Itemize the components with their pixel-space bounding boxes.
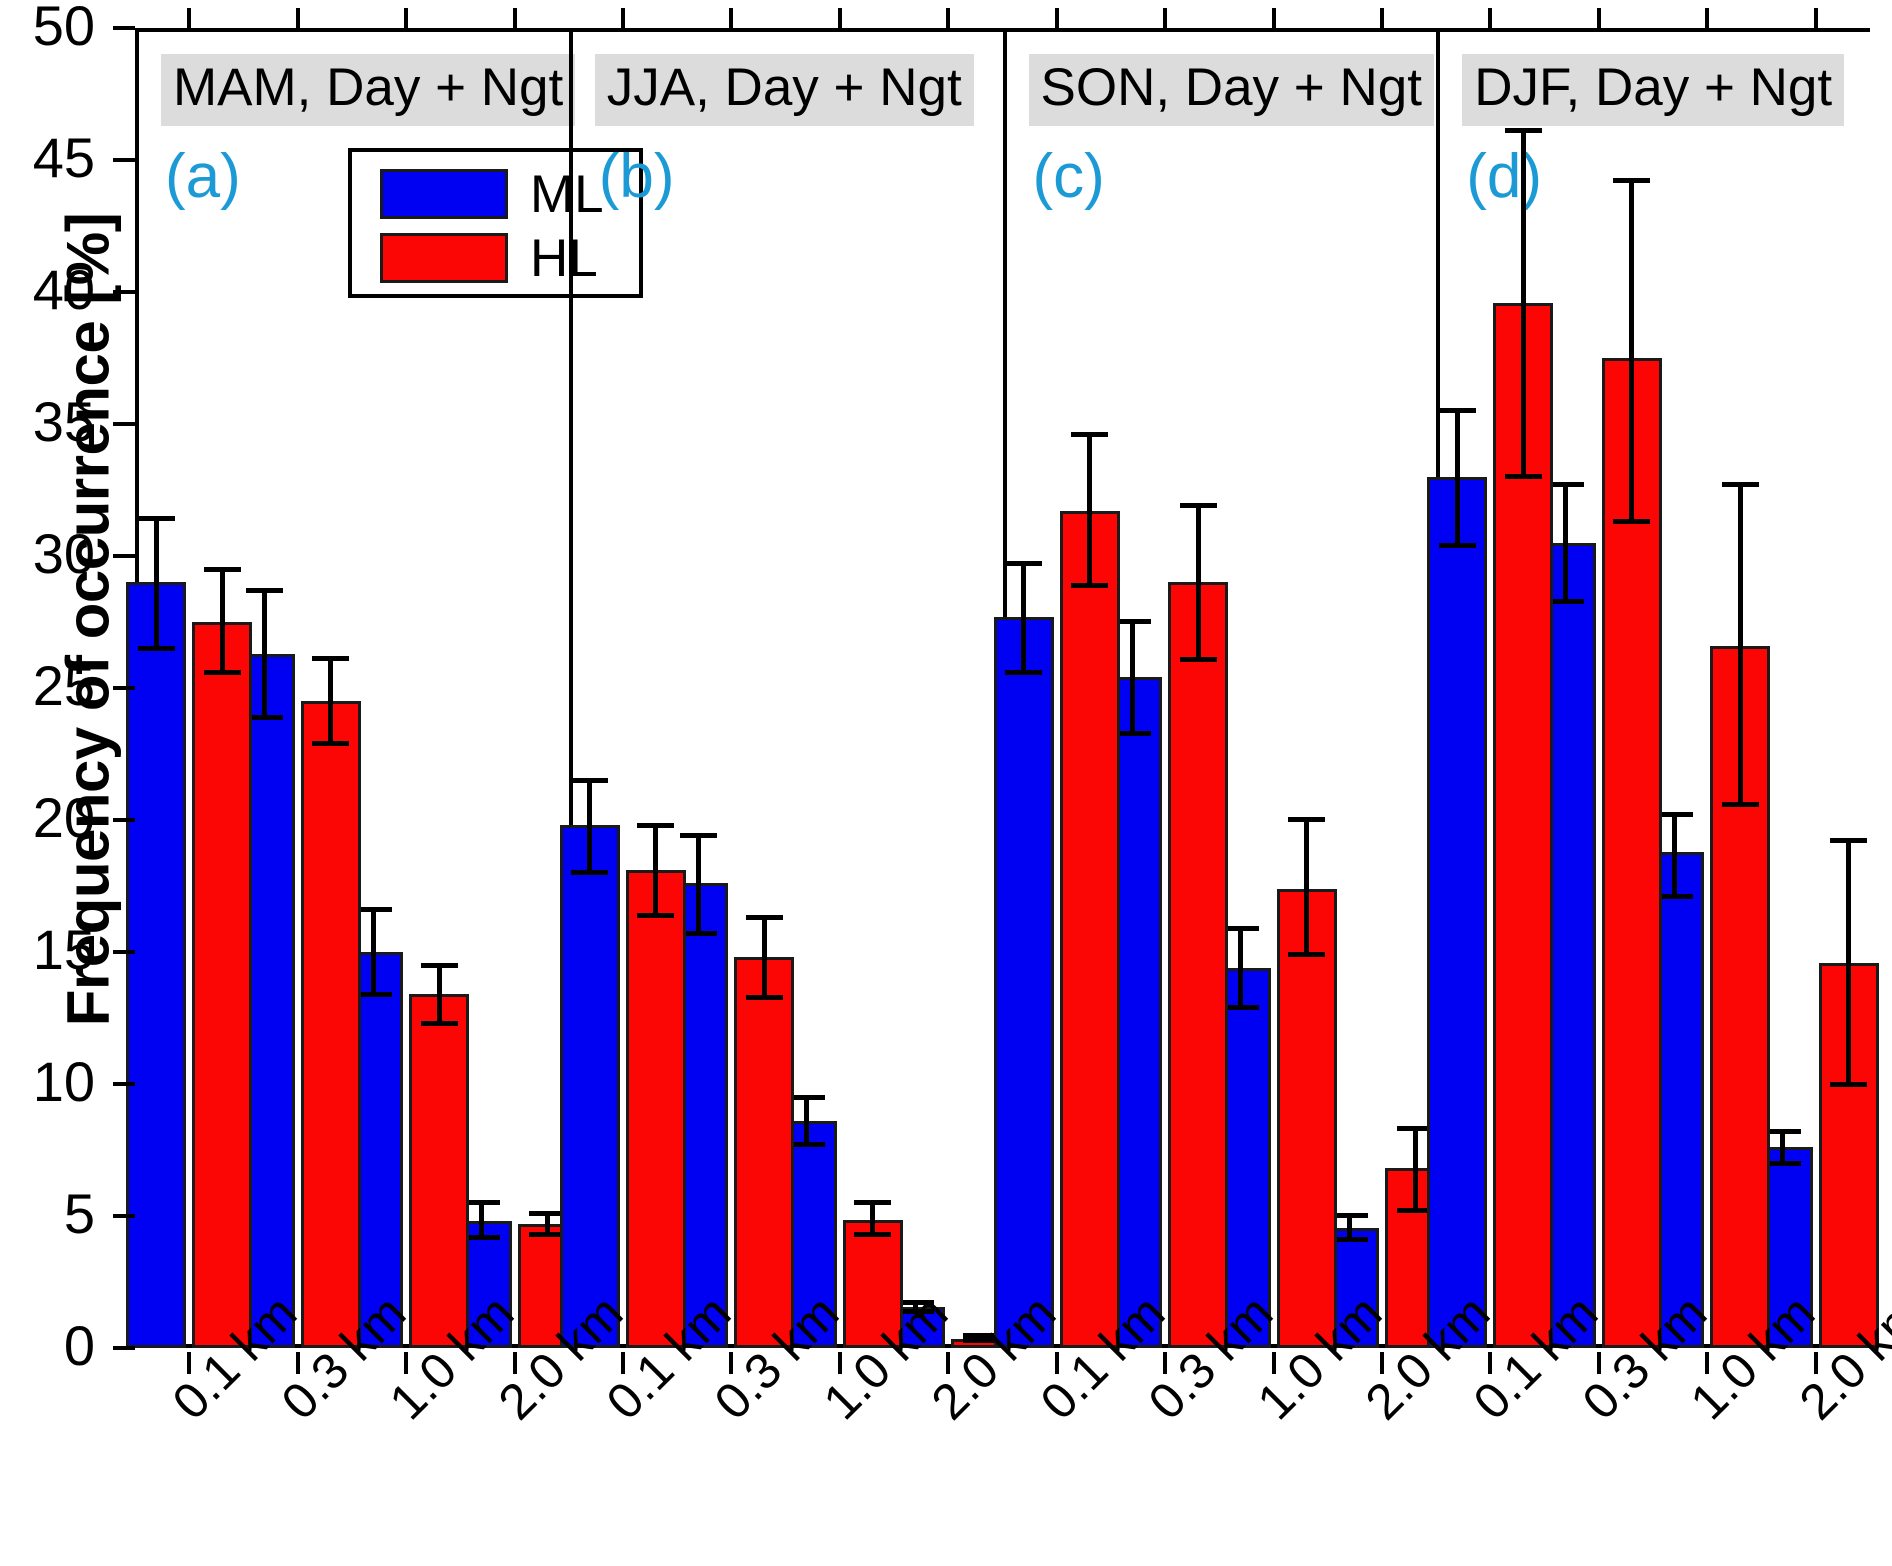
bar-b-hl-0 bbox=[626, 870, 686, 1348]
y-tick-mark bbox=[113, 950, 135, 954]
error-bar-cap bbox=[854, 1232, 891, 1237]
top-tick-mark bbox=[1705, 8, 1709, 28]
y-tick-label: 35 bbox=[0, 394, 95, 450]
error-bar-cap bbox=[421, 963, 458, 968]
error-bar bbox=[220, 567, 225, 675]
y-tick-mark bbox=[113, 422, 135, 426]
top-tick-mark bbox=[1597, 8, 1601, 28]
y-tick-label: 5 bbox=[0, 1186, 95, 1242]
error-bar bbox=[262, 588, 267, 720]
error-bar-cap bbox=[421, 1021, 458, 1026]
bar-a-ml-0 bbox=[126, 582, 186, 1348]
error-bar bbox=[1846, 838, 1851, 1086]
y-tick-mark bbox=[113, 554, 135, 558]
error-bar-cap bbox=[1071, 432, 1108, 437]
error-bar-cap bbox=[854, 1200, 891, 1205]
error-bar-cap bbox=[746, 915, 783, 920]
panel-label-d: (d) bbox=[1466, 146, 1542, 208]
error-bar-cap bbox=[1288, 817, 1325, 822]
y-tick-mark bbox=[113, 1082, 135, 1086]
error-bar bbox=[328, 656, 333, 746]
error-bar bbox=[1087, 432, 1092, 588]
legend-swatch-ml bbox=[380, 169, 508, 219]
error-bar-cap bbox=[312, 741, 349, 746]
y-tick-mark bbox=[113, 290, 135, 294]
y-tick-mark bbox=[113, 158, 135, 162]
bar-a-hl-0 bbox=[192, 622, 252, 1348]
error-bar bbox=[1238, 926, 1243, 1010]
y-tick-mark bbox=[113, 818, 135, 822]
error-bar-cap bbox=[138, 516, 175, 521]
bar-a-hl-1 bbox=[301, 701, 361, 1348]
panel-d: DJF, Day + Ngt(d) bbox=[1436, 28, 1870, 1348]
error-bar bbox=[587, 778, 592, 876]
bar-a-hl-2 bbox=[409, 994, 469, 1348]
error-bar-cap bbox=[637, 913, 674, 918]
panel-b: JJA, Day + Ngt(b) bbox=[569, 28, 1003, 1348]
top-tick-mark bbox=[513, 8, 517, 28]
error-bar-cap bbox=[1505, 474, 1542, 479]
error-bar-cap bbox=[1505, 128, 1542, 133]
error-bar bbox=[154, 516, 159, 651]
error-bar bbox=[371, 907, 376, 997]
error-bar-cap bbox=[571, 870, 608, 875]
error-bar-cap bbox=[204, 567, 241, 572]
panel-label-c: (c) bbox=[1033, 146, 1105, 208]
bar-c-hl-2 bbox=[1277, 889, 1337, 1348]
y-tick-mark bbox=[113, 26, 135, 30]
panel-title: SON, Day + Ngt bbox=[1029, 54, 1434, 126]
error-bar bbox=[1521, 128, 1526, 479]
top-tick-mark bbox=[621, 8, 625, 28]
panel-label-a: (a) bbox=[165, 146, 241, 208]
y-tick-mark bbox=[113, 1346, 135, 1350]
top-tick-mark bbox=[729, 8, 733, 28]
error-bar bbox=[1021, 561, 1026, 675]
error-bar-cap bbox=[1439, 408, 1476, 413]
error-bar-cap bbox=[1439, 543, 1476, 548]
legend-swatch-hl bbox=[380, 233, 508, 283]
error-bar-cap bbox=[1830, 838, 1867, 843]
error-bar-cap bbox=[1180, 657, 1217, 662]
error-bar bbox=[1304, 817, 1309, 957]
error-bar-cap bbox=[1722, 802, 1759, 807]
error-bar bbox=[1672, 812, 1677, 899]
panel-title: JJA, Day + Ngt bbox=[595, 54, 974, 126]
error-bar-cap bbox=[246, 588, 283, 593]
panel-title: DJF, Day + Ngt bbox=[1462, 54, 1844, 126]
panel-label-b: (b) bbox=[599, 146, 675, 208]
error-bar bbox=[1738, 482, 1743, 807]
error-bar-cap bbox=[637, 823, 674, 828]
error-bar bbox=[762, 915, 767, 999]
error-bar bbox=[696, 833, 701, 936]
y-tick-label: 45 bbox=[0, 130, 95, 186]
top-tick-mark bbox=[1163, 8, 1167, 28]
panel-title: MAM, Day + Ngt bbox=[161, 54, 575, 126]
bar-c-hl-0 bbox=[1060, 511, 1120, 1348]
y-tick-label: 25 bbox=[0, 658, 95, 714]
bar-d-ml-0 bbox=[1427, 477, 1487, 1348]
error-bar-cap bbox=[1722, 482, 1759, 487]
top-tick-mark bbox=[1380, 8, 1384, 28]
y-tick-label: 15 bbox=[0, 922, 95, 978]
error-bar bbox=[1629, 178, 1634, 524]
bar-c-hl-1 bbox=[1168, 582, 1228, 1348]
error-bar-cap bbox=[746, 995, 783, 1000]
error-bar-cap bbox=[138, 646, 175, 651]
top-tick-mark bbox=[404, 8, 408, 28]
plot-area: MAM, Day + Ngt(a)MLHLJJA, Day + Ngt(b)SO… bbox=[135, 28, 1870, 1348]
error-bar-cap bbox=[1613, 178, 1650, 183]
y-tick-label: 10 bbox=[0, 1054, 95, 1110]
y-tick-label: 50 bbox=[0, 0, 95, 54]
y-tick-label: 20 bbox=[0, 790, 95, 846]
error-bar bbox=[1563, 482, 1568, 603]
bar-c-ml-0 bbox=[994, 617, 1054, 1348]
error-bar-cap bbox=[1288, 952, 1325, 957]
top-tick-mark bbox=[1055, 8, 1059, 28]
top-tick-mark bbox=[296, 8, 300, 28]
error-bar-cap bbox=[571, 778, 608, 783]
top-tick-mark bbox=[1814, 8, 1818, 28]
error-bar-cap bbox=[680, 833, 717, 838]
y-tick-label: 30 bbox=[0, 526, 95, 582]
error-bar bbox=[1196, 503, 1201, 661]
chart-figure: Frequency of occurrence [%] 051015202530… bbox=[0, 0, 1892, 1566]
top-tick-mark bbox=[946, 8, 950, 28]
y-tick-label: 0 bbox=[0, 1318, 95, 1374]
error-bar-cap bbox=[1071, 583, 1108, 588]
top-tick-mark bbox=[1488, 8, 1492, 28]
top-tick-mark bbox=[1272, 8, 1276, 28]
error-bar-cap bbox=[204, 670, 241, 675]
y-tick-label: 40 bbox=[0, 262, 95, 318]
top-tick-mark bbox=[838, 8, 842, 28]
error-bar-cap bbox=[1830, 1082, 1867, 1087]
bar-b-hl-1 bbox=[734, 957, 794, 1348]
y-tick-mark bbox=[113, 686, 135, 690]
error-bar-cap bbox=[1180, 503, 1217, 508]
top-tick-mark bbox=[187, 8, 191, 28]
y-tick-mark bbox=[113, 1214, 135, 1218]
error-bar bbox=[1130, 619, 1135, 735]
error-bar-cap bbox=[1005, 561, 1042, 566]
error-bar bbox=[653, 823, 658, 918]
error-bar bbox=[1455, 408, 1460, 548]
bar-b-ml-0 bbox=[560, 825, 620, 1348]
error-bar bbox=[1413, 1126, 1418, 1213]
error-bar-cap bbox=[1005, 670, 1042, 675]
error-bar-cap bbox=[1613, 519, 1650, 524]
error-bar-cap bbox=[312, 656, 349, 661]
panel-a: MAM, Day + Ngt(a)MLHL bbox=[135, 28, 569, 1348]
panel-c: SON, Day + Ngt(c) bbox=[1003, 28, 1437, 1348]
error-bar bbox=[437, 963, 442, 1026]
error-bar bbox=[804, 1095, 809, 1148]
